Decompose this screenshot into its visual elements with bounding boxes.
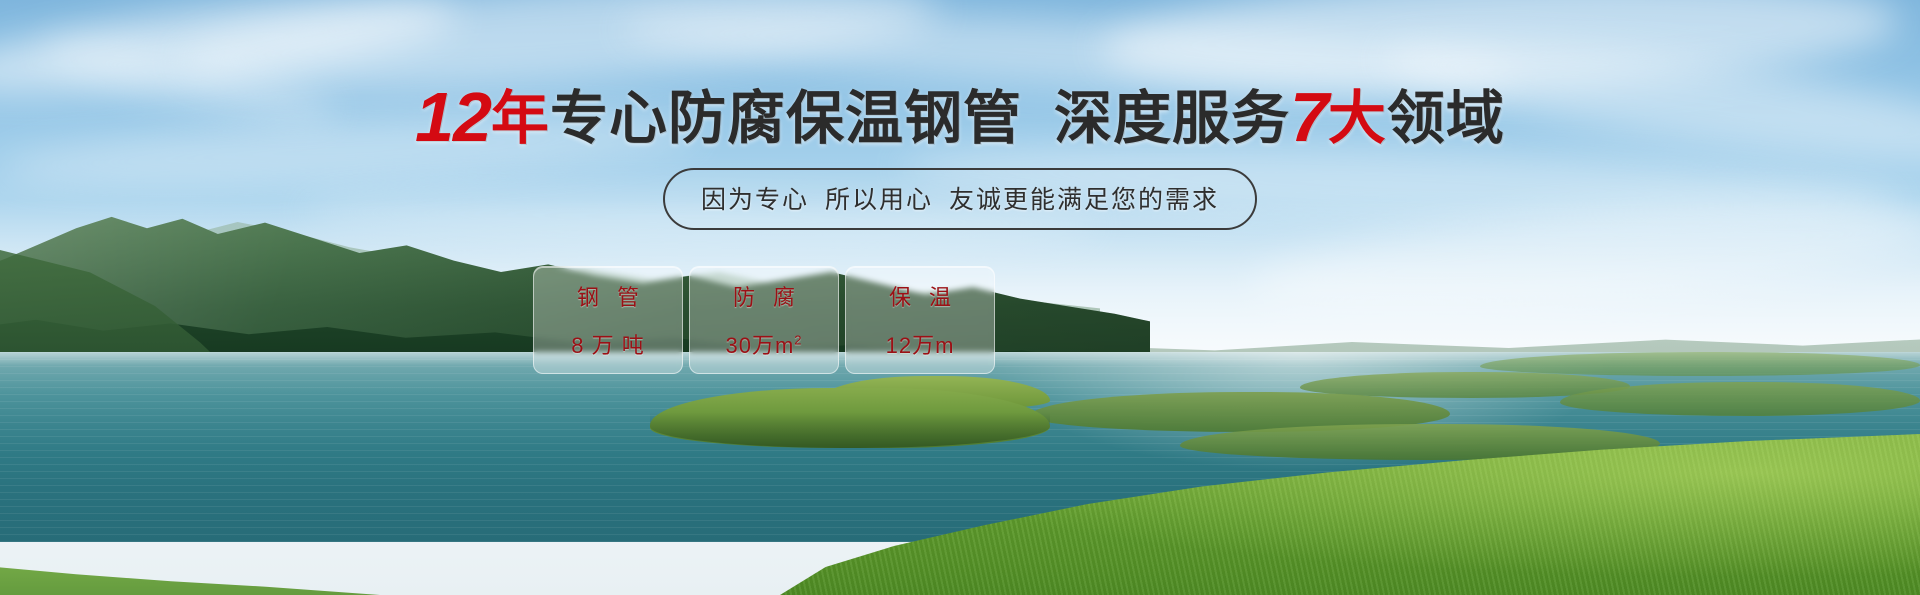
headline-service-text: 深度服务 bbox=[1054, 86, 1290, 151]
subtitle-part-1: 因为专心 bbox=[701, 186, 809, 214]
hero-banner: 12年专心防腐保温钢管深度服务7大领域 因为专心所以用心友诚更能满足您的需求 钢… bbox=[0, 0, 1920, 595]
headline-fields-number: 7 bbox=[1290, 78, 1328, 156]
stat-card-title: 钢 管 bbox=[571, 280, 645, 312]
stat-card-value: 30万m2 bbox=[725, 328, 802, 360]
stat-card-insulation[interactable]: 保 温 12万m bbox=[845, 266, 995, 374]
headline: 12年专心防腐保温钢管深度服务7大领域 bbox=[0, 82, 1920, 152]
subtitle-pill: 因为专心所以用心友诚更能满足您的需求 bbox=[663, 168, 1257, 230]
headline-years-unit: 年 bbox=[491, 86, 550, 151]
subtitle-part-2: 所以用心 bbox=[825, 186, 933, 214]
stat-card-title: 防 腐 bbox=[727, 280, 801, 312]
stat-card-steel-pipe[interactable]: 钢 管 8 万 吨 bbox=[533, 266, 683, 374]
stat-card-value: 8 万 吨 bbox=[571, 328, 644, 360]
stat-cards: 钢 管 8 万 吨 防 腐 30万m2 保 温 12万m bbox=[533, 266, 995, 374]
stat-card-anticorrosion[interactable]: 防 腐 30万m2 bbox=[689, 266, 839, 374]
stat-card-value-text: 12万m bbox=[886, 333, 955, 358]
stat-card-title: 保 温 bbox=[883, 280, 957, 312]
subtitle-container: 因为专心所以用心友诚更能满足您的需求 bbox=[0, 168, 1920, 230]
subtitle-part-3: 友诚更能满足您的需求 bbox=[949, 186, 1219, 214]
stat-card-value: 12万m bbox=[886, 328, 955, 360]
stat-card-value-exponent: 2 bbox=[794, 333, 802, 348]
headline-years-number: 12 bbox=[415, 78, 491, 156]
stat-card-value-text: 30万m bbox=[725, 333, 794, 358]
headline-main-text: 专心防腐保温钢管 bbox=[550, 86, 1022, 151]
banner-content: 12年专心防腐保温钢管深度服务7大领域 因为专心所以用心友诚更能满足您的需求 钢… bbox=[0, 0, 1920, 595]
headline-fields-unit: 大 bbox=[1328, 86, 1387, 151]
stat-card-value-text: 8 万 吨 bbox=[571, 333, 644, 358]
headline-fields-tail: 领域 bbox=[1387, 86, 1505, 151]
